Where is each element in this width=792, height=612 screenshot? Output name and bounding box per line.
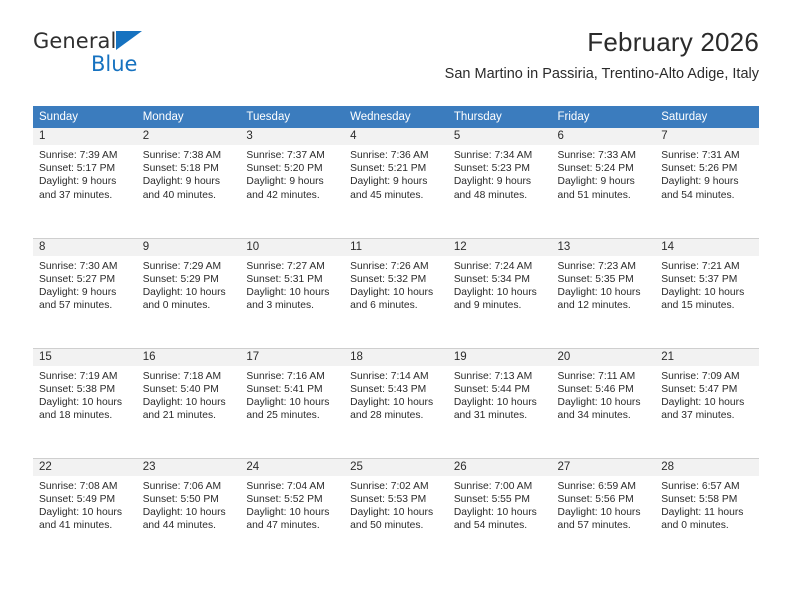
page-title: February 2026: [445, 28, 759, 57]
daylight-text: Daylight: 10 hours and 37 minutes.: [661, 396, 751, 422]
day-number: 2: [137, 128, 241, 145]
weekday-header-saturday: Saturday: [655, 106, 759, 128]
day-sun-info: Sunrise: 7:31 AMSunset: 5:26 PMDaylight:…: [655, 145, 759, 202]
day-sun-info: Sunrise: 7:34 AMSunset: 5:23 PMDaylight:…: [448, 145, 552, 202]
sunrise-text: Sunrise: 7:29 AM: [143, 260, 233, 273]
sunset-text: Sunset: 5:18 PM: [143, 162, 233, 175]
daylight-text: Daylight: 10 hours and 0 minutes.: [143, 286, 233, 312]
calendar-day-cell[interactable]: 3Sunrise: 7:37 AMSunset: 5:20 PMDaylight…: [240, 128, 344, 238]
day-number: 8: [33, 239, 137, 256]
day-number: 12: [448, 239, 552, 256]
sunrise-text: Sunrise: 6:59 AM: [558, 480, 648, 493]
calendar-day-cell[interactable]: 4Sunrise: 7:36 AMSunset: 5:21 PMDaylight…: [344, 128, 448, 238]
day-sun-info: Sunrise: 7:33 AMSunset: 5:24 PMDaylight:…: [552, 145, 656, 202]
calendar-day-cell[interactable]: 13Sunrise: 7:23 AMSunset: 5:35 PMDayligh…: [552, 238, 656, 348]
day-number: 24: [240, 459, 344, 476]
sunset-text: Sunset: 5:26 PM: [661, 162, 751, 175]
day-sun-info: Sunrise: 7:11 AMSunset: 5:46 PMDaylight:…: [552, 366, 656, 423]
calendar-day-cell[interactable]: 18Sunrise: 7:14 AMSunset: 5:43 PMDayligh…: [344, 348, 448, 458]
daylight-text: Daylight: 10 hours and 41 minutes.: [39, 506, 129, 532]
day-number: 13: [552, 239, 656, 256]
sunrise-text: Sunrise: 7:16 AM: [246, 370, 336, 383]
daylight-text: Daylight: 11 hours and 0 minutes.: [661, 506, 751, 532]
sunset-text: Sunset: 5:58 PM: [661, 493, 751, 506]
sunrise-text: Sunrise: 7:11 AM: [558, 370, 648, 383]
sunset-text: Sunset: 5:23 PM: [454, 162, 544, 175]
sunrise-text: Sunrise: 6:57 AM: [661, 480, 751, 493]
day-number: 18: [344, 349, 448, 366]
day-number: 10: [240, 239, 344, 256]
calendar-day-cell[interactable]: 17Sunrise: 7:16 AMSunset: 5:41 PMDayligh…: [240, 348, 344, 458]
weekday-header-friday: Friday: [552, 106, 656, 128]
day-sun-info: Sunrise: 7:04 AMSunset: 5:52 PMDaylight:…: [240, 476, 344, 533]
calendar-header-row: Sunday Monday Tuesday Wednesday Thursday…: [33, 106, 759, 128]
daylight-text: Daylight: 10 hours and 28 minutes.: [350, 396, 440, 422]
sunset-text: Sunset: 5:55 PM: [454, 493, 544, 506]
page-header: General Blue February 2026 San Martino i…: [0, 0, 792, 72]
sunset-text: Sunset: 5:20 PM: [246, 162, 336, 175]
daylight-text: Daylight: 9 hours and 51 minutes.: [558, 175, 648, 201]
calendar-day-cell[interactable]: 26Sunrise: 7:00 AMSunset: 5:55 PMDayligh…: [448, 458, 552, 568]
calendar-day-cell[interactable]: 7Sunrise: 7:31 AMSunset: 5:26 PMDaylight…: [655, 128, 759, 238]
day-sun-info: Sunrise: 7:21 AMSunset: 5:37 PMDaylight:…: [655, 256, 759, 313]
day-sun-info: Sunrise: 7:24 AMSunset: 5:34 PMDaylight:…: [448, 256, 552, 313]
sunset-text: Sunset: 5:52 PM: [246, 493, 336, 506]
sunset-text: Sunset: 5:50 PM: [143, 493, 233, 506]
sunset-text: Sunset: 5:35 PM: [558, 273, 648, 286]
sunrise-text: Sunrise: 7:00 AM: [454, 480, 544, 493]
day-number: 25: [344, 459, 448, 476]
sunset-text: Sunset: 5:41 PM: [246, 383, 336, 396]
day-number: 4: [344, 128, 448, 145]
daylight-text: Daylight: 10 hours and 15 minutes.: [661, 286, 751, 312]
calendar-day-cell[interactable]: 19Sunrise: 7:13 AMSunset: 5:44 PMDayligh…: [448, 348, 552, 458]
sunset-text: Sunset: 5:34 PM: [454, 273, 544, 286]
sunset-text: Sunset: 5:29 PM: [143, 273, 233, 286]
calendar-day-cell[interactable]: 27Sunrise: 6:59 AMSunset: 5:56 PMDayligh…: [552, 458, 656, 568]
calendar-day-cell[interactable]: 2Sunrise: 7:38 AMSunset: 5:18 PMDaylight…: [137, 128, 241, 238]
day-sun-info: Sunrise: 7:14 AMSunset: 5:43 PMDaylight:…: [344, 366, 448, 423]
sunset-text: Sunset: 5:53 PM: [350, 493, 440, 506]
sunrise-text: Sunrise: 7:18 AM: [143, 370, 233, 383]
logo-text-general: General: [33, 29, 116, 53]
sunset-text: Sunset: 5:46 PM: [558, 383, 648, 396]
daylight-text: Daylight: 9 hours and 42 minutes.: [246, 175, 336, 201]
sunrise-text: Sunrise: 7:13 AM: [454, 370, 544, 383]
daylight-text: Daylight: 10 hours and 44 minutes.: [143, 506, 233, 532]
sunrise-text: Sunrise: 7:31 AM: [661, 149, 751, 162]
daylight-text: Daylight: 10 hours and 9 minutes.: [454, 286, 544, 312]
logo-text-blue: Blue: [91, 54, 233, 75]
day-number: 3: [240, 128, 344, 145]
weekday-header-wednesday: Wednesday: [344, 106, 448, 128]
day-sun-info: Sunrise: 7:06 AMSunset: 5:50 PMDaylight:…: [137, 476, 241, 533]
day-number: 14: [655, 239, 759, 256]
daylight-text: Daylight: 9 hours and 40 minutes.: [143, 175, 233, 201]
day-number: 21: [655, 349, 759, 366]
day-number: 7: [655, 128, 759, 145]
day-sun-info: Sunrise: 7:02 AMSunset: 5:53 PMDaylight:…: [344, 476, 448, 533]
sunrise-text: Sunrise: 7:36 AM: [350, 149, 440, 162]
weekday-header-sunday: Sunday: [33, 106, 137, 128]
day-number: 17: [240, 349, 344, 366]
day-sun-info: Sunrise: 6:57 AMSunset: 5:58 PMDaylight:…: [655, 476, 759, 533]
calendar-day-cell[interactable]: 12Sunrise: 7:24 AMSunset: 5:34 PMDayligh…: [448, 238, 552, 348]
daylight-text: Daylight: 9 hours and 37 minutes.: [39, 175, 129, 201]
sunset-text: Sunset: 5:43 PM: [350, 383, 440, 396]
day-number: 1: [33, 128, 137, 145]
weekday-header-thursday: Thursday: [448, 106, 552, 128]
sunset-text: Sunset: 5:37 PM: [661, 273, 751, 286]
daylight-text: Daylight: 10 hours and 18 minutes.: [39, 396, 129, 422]
calendar-body: 1Sunrise: 7:39 AMSunset: 5:17 PMDaylight…: [33, 128, 759, 568]
daylight-text: Daylight: 10 hours and 57 minutes.: [558, 506, 648, 532]
day-sun-info: Sunrise: 7:09 AMSunset: 5:47 PMDaylight:…: [655, 366, 759, 423]
daylight-text: Daylight: 10 hours and 47 minutes.: [246, 506, 336, 532]
daylight-text: Daylight: 9 hours and 48 minutes.: [454, 175, 544, 201]
daylight-text: Daylight: 10 hours and 50 minutes.: [350, 506, 440, 532]
sunrise-text: Sunrise: 7:19 AM: [39, 370, 129, 383]
day-sun-info: Sunrise: 7:26 AMSunset: 5:32 PMDaylight:…: [344, 256, 448, 313]
day-sun-info: Sunrise: 7:00 AMSunset: 5:55 PMDaylight:…: [448, 476, 552, 533]
title-block: February 2026 San Martino in Passiria, T…: [445, 28, 759, 82]
day-number: 6: [552, 128, 656, 145]
sunrise-text: Sunrise: 7:21 AM: [661, 260, 751, 273]
calendar-day-cell[interactable]: 1Sunrise: 7:39 AMSunset: 5:17 PMDaylight…: [33, 128, 137, 238]
calendar-day-cell[interactable]: 8Sunrise: 7:30 AMSunset: 5:27 PMDaylight…: [33, 238, 137, 348]
day-sun-info: Sunrise: 7:13 AMSunset: 5:44 PMDaylight:…: [448, 366, 552, 423]
calendar-day-cell[interactable]: 22Sunrise: 7:08 AMSunset: 5:49 PMDayligh…: [33, 458, 137, 568]
logo-triangle-icon: [116, 31, 142, 50]
day-number: 23: [137, 459, 241, 476]
daylight-text: Daylight: 9 hours and 57 minutes.: [39, 286, 129, 312]
sunset-text: Sunset: 5:56 PM: [558, 493, 648, 506]
calendar-week-row: 15Sunrise: 7:19 AMSunset: 5:38 PMDayligh…: [33, 348, 759, 458]
sunrise-text: Sunrise: 7:27 AM: [246, 260, 336, 273]
day-sun-info: Sunrise: 7:39 AMSunset: 5:17 PMDaylight:…: [33, 145, 137, 202]
calendar-grid: Sunday Monday Tuesday Wednesday Thursday…: [33, 106, 759, 568]
sunset-text: Sunset: 5:38 PM: [39, 383, 129, 396]
day-number: 27: [552, 459, 656, 476]
daylight-text: Daylight: 10 hours and 54 minutes.: [454, 506, 544, 532]
sunrise-text: Sunrise: 7:04 AM: [246, 480, 336, 493]
calendar-day-cell[interactable]: 5Sunrise: 7:34 AMSunset: 5:23 PMDaylight…: [448, 128, 552, 238]
daylight-text: Daylight: 9 hours and 54 minutes.: [661, 175, 751, 201]
sunset-text: Sunset: 5:40 PM: [143, 383, 233, 396]
day-sun-info: Sunrise: 7:38 AMSunset: 5:18 PMDaylight:…: [137, 145, 241, 202]
day-sun-info: Sunrise: 7:08 AMSunset: 5:49 PMDaylight:…: [33, 476, 137, 533]
sunrise-text: Sunrise: 7:14 AM: [350, 370, 440, 383]
sunset-text: Sunset: 5:27 PM: [39, 273, 129, 286]
day-number: 26: [448, 459, 552, 476]
logo-line-general: General: [33, 30, 233, 53]
calendar-day-cell[interactable]: 10Sunrise: 7:27 AMSunset: 5:31 PMDayligh…: [240, 238, 344, 348]
day-sun-info: Sunrise: 7:37 AMSunset: 5:20 PMDaylight:…: [240, 145, 344, 202]
sunrise-text: Sunrise: 7:24 AM: [454, 260, 544, 273]
weekday-header-tuesday: Tuesday: [240, 106, 344, 128]
day-sun-info: Sunrise: 6:59 AMSunset: 5:56 PMDaylight:…: [552, 476, 656, 533]
day-number: 28: [655, 459, 759, 476]
sunrise-text: Sunrise: 7:34 AM: [454, 149, 544, 162]
sunrise-text: Sunrise: 7:30 AM: [39, 260, 129, 273]
daylight-text: Daylight: 9 hours and 45 minutes.: [350, 175, 440, 201]
calendar-day-cell[interactable]: 23Sunrise: 7:06 AMSunset: 5:50 PMDayligh…: [137, 458, 241, 568]
sunrise-text: Sunrise: 7:26 AM: [350, 260, 440, 273]
day-number: 20: [552, 349, 656, 366]
day-sun-info: Sunrise: 7:27 AMSunset: 5:31 PMDaylight:…: [240, 256, 344, 313]
sunrise-text: Sunrise: 7:08 AM: [39, 480, 129, 493]
sunrise-text: Sunrise: 7:06 AM: [143, 480, 233, 493]
day-sun-info: Sunrise: 7:18 AMSunset: 5:40 PMDaylight:…: [137, 366, 241, 423]
daylight-text: Daylight: 10 hours and 3 minutes.: [246, 286, 336, 312]
sunset-text: Sunset: 5:32 PM: [350, 273, 440, 286]
sunset-text: Sunset: 5:47 PM: [661, 383, 751, 396]
sunset-text: Sunset: 5:21 PM: [350, 162, 440, 175]
day-number: 9: [137, 239, 241, 256]
general-blue-logo[interactable]: General Blue: [33, 30, 233, 80]
daylight-text: Daylight: 10 hours and 25 minutes.: [246, 396, 336, 422]
calendar-week-row: 8Sunrise: 7:30 AMSunset: 5:27 PMDaylight…: [33, 238, 759, 348]
day-number: 11: [344, 239, 448, 256]
page-subtitle: San Martino in Passiria, Trentino-Alto A…: [445, 66, 759, 82]
sunset-text: Sunset: 5:44 PM: [454, 383, 544, 396]
sunset-text: Sunset: 5:17 PM: [39, 162, 129, 175]
calendar-day-cell[interactable]: 6Sunrise: 7:33 AMSunset: 5:24 PMDaylight…: [552, 128, 656, 238]
calendar-day-cell[interactable]: 20Sunrise: 7:11 AMSunset: 5:46 PMDayligh…: [552, 348, 656, 458]
sunset-text: Sunset: 5:24 PM: [558, 162, 648, 175]
daylight-text: Daylight: 10 hours and 6 minutes.: [350, 286, 440, 312]
calendar-day-cell[interactable]: 24Sunrise: 7:04 AMSunset: 5:52 PMDayligh…: [240, 458, 344, 568]
day-sun-info: Sunrise: 7:29 AMSunset: 5:29 PMDaylight:…: [137, 256, 241, 313]
calendar-week-row: 22Sunrise: 7:08 AMSunset: 5:49 PMDayligh…: [33, 458, 759, 568]
day-number: 19: [448, 349, 552, 366]
sunrise-text: Sunrise: 7:09 AM: [661, 370, 751, 383]
sunrise-text: Sunrise: 7:37 AM: [246, 149, 336, 162]
sunrise-text: Sunrise: 7:39 AM: [39, 149, 129, 162]
sunrise-text: Sunrise: 7:38 AM: [143, 149, 233, 162]
calendar-day-cell[interactable]: 11Sunrise: 7:26 AMSunset: 5:32 PMDayligh…: [344, 238, 448, 348]
day-sun-info: Sunrise: 7:30 AMSunset: 5:27 PMDaylight:…: [33, 256, 137, 313]
day-number: 15: [33, 349, 137, 366]
calendar-week-row: 1Sunrise: 7:39 AMSunset: 5:17 PMDaylight…: [33, 128, 759, 238]
calendar-day-cell[interactable]: 14Sunrise: 7:21 AMSunset: 5:37 PMDayligh…: [655, 238, 759, 348]
day-sun-info: Sunrise: 7:19 AMSunset: 5:38 PMDaylight:…: [33, 366, 137, 423]
day-number: 22: [33, 459, 137, 476]
calendar-day-cell[interactable]: 28Sunrise: 6:57 AMSunset: 5:58 PMDayligh…: [655, 458, 759, 568]
daylight-text: Daylight: 10 hours and 34 minutes.: [558, 396, 648, 422]
sunrise-text: Sunrise: 7:33 AM: [558, 149, 648, 162]
daylight-text: Daylight: 10 hours and 31 minutes.: [454, 396, 544, 422]
daylight-text: Daylight: 10 hours and 12 minutes.: [558, 286, 648, 312]
calendar-day-cell[interactable]: 16Sunrise: 7:18 AMSunset: 5:40 PMDayligh…: [137, 348, 241, 458]
calendar-page: General Blue February 2026 San Martino i…: [0, 0, 792, 612]
day-sun-info: Sunrise: 7:16 AMSunset: 5:41 PMDaylight:…: [240, 366, 344, 423]
sunrise-text: Sunrise: 7:02 AM: [350, 480, 440, 493]
daylight-text: Daylight: 10 hours and 21 minutes.: [143, 396, 233, 422]
calendar-day-cell[interactable]: 25Sunrise: 7:02 AMSunset: 5:53 PMDayligh…: [344, 458, 448, 568]
weekday-header-monday: Monday: [137, 106, 241, 128]
day-number: 16: [137, 349, 241, 366]
day-sun-info: Sunrise: 7:36 AMSunset: 5:21 PMDaylight:…: [344, 145, 448, 202]
sunrise-text: Sunrise: 7:23 AM: [558, 260, 648, 273]
calendar-day-cell[interactable]: 21Sunrise: 7:09 AMSunset: 5:47 PMDayligh…: [655, 348, 759, 458]
sunset-text: Sunset: 5:49 PM: [39, 493, 129, 506]
calendar-day-cell[interactable]: 9Sunrise: 7:29 AMSunset: 5:29 PMDaylight…: [137, 238, 241, 348]
day-sun-info: Sunrise: 7:23 AMSunset: 5:35 PMDaylight:…: [552, 256, 656, 313]
day-number: 5: [448, 128, 552, 145]
sunset-text: Sunset: 5:31 PM: [246, 273, 336, 286]
calendar-day-cell[interactable]: 15Sunrise: 7:19 AMSunset: 5:38 PMDayligh…: [33, 348, 137, 458]
